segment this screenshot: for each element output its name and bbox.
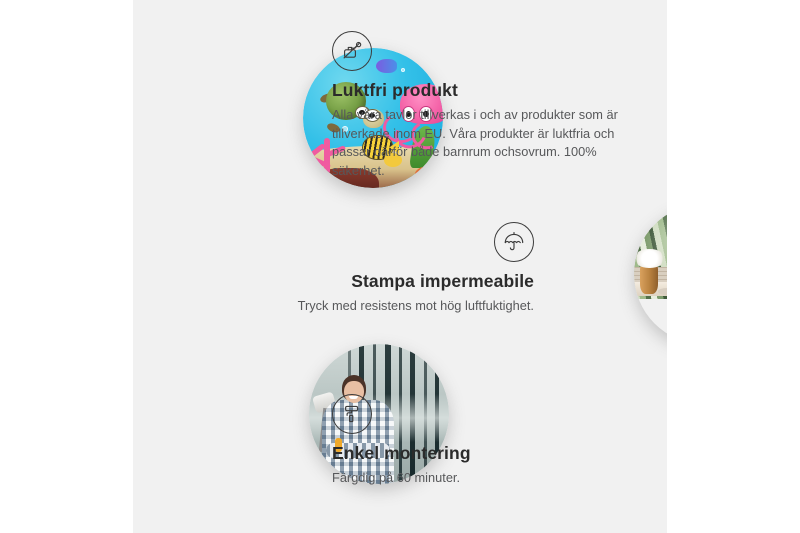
feature-mounting: Enkel montering Färgdig på 60 minuter. [332,394,612,488]
feature-waterproof-title: Stampa impermeabile [197,271,534,293]
content-stage: Luktfri produkt Alla våra tavlor tillver… [133,0,667,533]
umbrella-icon [494,222,534,262]
photo-bathroom-inner [634,204,667,344]
feature-odourless-title: Luktfri produkt [332,80,633,102]
feature-waterproof: Stampa impermeabile Tryck med resistens … [197,222,534,316]
feature-mounting-title: Enkel montering [332,443,612,465]
feature-odourless: Luktfri produkt Alla våra tavlor tillver… [332,31,633,181]
feature-waterproof-description: Tryck med resistens mot hög luftfuktighe… [197,297,534,316]
feature-waterproof-text: Stampa impermeabile Tryck med resistens … [197,271,534,316]
no-scent-spray-bottle-icon [332,31,372,71]
white-flowers-icon [634,249,665,269]
feature-odourless-description: Alla våra tavlor tillverkas i och av pro… [332,106,633,181]
paint-roller-icon [332,394,372,434]
photo-bathroom [634,204,667,344]
feature-odourless-text: Luktfri produkt Alla våra tavlor tillver… [332,80,633,181]
feature-mounting-description: Färgdig på 60 minuter. [332,469,612,488]
feature-mounting-text: Enkel montering Färgdig på 60 minuter. [332,443,612,488]
infographic-canvas: Luktfri produkt Alla våra tavlor tillver… [0,0,800,533]
